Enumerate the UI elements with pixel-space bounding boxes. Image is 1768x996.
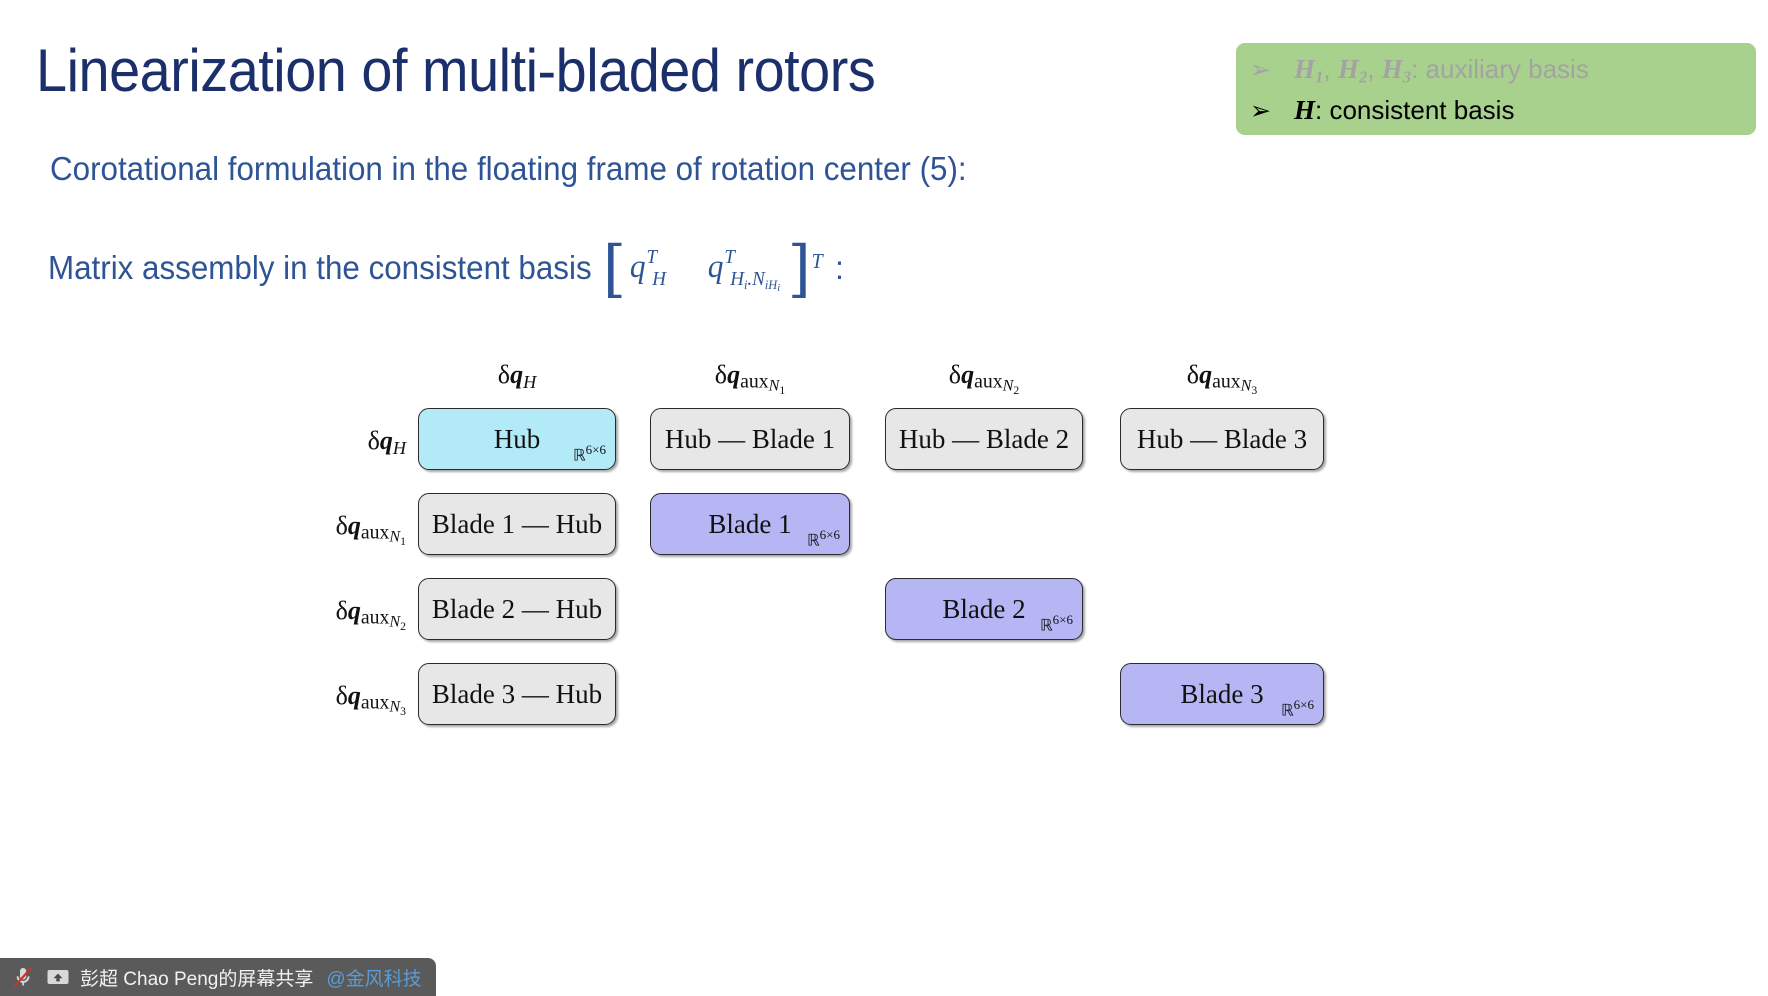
screen-share-icon[interactable] <box>45 964 71 990</box>
matrix-cell-dimension: ℝ6×6 <box>1040 612 1073 635</box>
formula-open-bracket: [ <box>603 244 626 294</box>
formula-term1-sub: H <box>652 268 666 290</box>
formula-consistent-basis-vector: [ qTH qTHi.NiHi ] T : <box>603 243 844 293</box>
matrix-cell-label: Blade 1 — Hub <box>432 509 602 540</box>
arrow-bullet-icon: ➢ <box>1250 91 1294 132</box>
callout-label-auxiliary: : auxiliary basis <box>1411 54 1589 84</box>
matrix-column-header-col-aux3: δqauxN3 <box>1120 360 1324 397</box>
matrix-cell-label: Blade 3 — Hub <box>432 679 602 710</box>
matrix-column-header-col-qH: δqH <box>418 360 616 393</box>
math-var-H: H <box>1294 95 1315 125</box>
formula-term2-sup: T <box>724 246 735 268</box>
matrix-row-header-row-aux2: δqauxN2 <box>300 596 406 633</box>
callout-box: ➢ H1, H2, H3: auxiliary basis ➢ H: consi… <box>1236 43 1756 135</box>
formula-term2-sub-NH: H <box>768 277 777 292</box>
formula-term-qH: qTH <box>626 249 674 286</box>
screen-share-host-tag: @金风科技 <box>326 964 421 991</box>
math-var-H3: H3 <box>1382 54 1411 84</box>
matrix-cell-dimension: ℝ6×6 <box>807 527 840 550</box>
formula-term2-sub-NHi: i <box>777 282 780 294</box>
matrix-row-header-row-qH: δqH <box>300 426 406 459</box>
matrix-cell-cell-hub-blade2: Hub — Blade 2 <box>885 408 1083 470</box>
matrix-cell-label: Blade 2 — Hub <box>432 594 602 625</box>
formula-term-qHiN: qTHi.NiHi <box>704 249 788 286</box>
matrix-cell-cell-blade1-hub: Blade 1 — Hub <box>418 493 616 555</box>
matrix-row-header-row-aux3: δqauxN3 <box>300 681 406 718</box>
matrix-cell-dimension: ℝ6×6 <box>1281 697 1314 720</box>
callout-label-consistent: : consistent basis <box>1315 95 1514 125</box>
matrix-cell-cell-blade1: Blade 1ℝ6×6 <box>650 493 850 555</box>
matrix-cell-cell-hub: Hubℝ6×6 <box>418 408 616 470</box>
callout-item-consistent-basis-text: H: consistent basis <box>1294 90 1514 131</box>
matrix-cell-label: Blade 3 <box>1180 679 1263 710</box>
formula-term2-sub-i: i <box>744 277 747 292</box>
callout-item-consistent-basis: ➢ H: consistent basis <box>1250 90 1746 131</box>
slide-canvas: Linearization of multi-bladed rotors ➢ H… <box>0 0 1768 996</box>
matrix-cell-label: Hub — Blade 2 <box>899 424 1069 455</box>
matrix-cell-cell-blade3-hub: Blade 3 — Hub <box>418 663 616 725</box>
body-text-corotational: Corotational formulation in the floating… <box>50 150 967 188</box>
matrix-cell-cell-blade2-hub: Blade 2 — Hub <box>418 578 616 640</box>
formula-term1-base: q <box>630 249 646 285</box>
matrix-cell-label: Hub — Blade 1 <box>665 424 835 455</box>
screen-share-owner-text: 彭超 Chao Peng的屏幕共享 <box>80 964 313 991</box>
formula-term2-base: q <box>708 249 724 285</box>
callout-item-auxiliary-basis: ➢ H1, H2, H3: auxiliary basis <box>1250 49 1746 90</box>
formula-close-bracket: ] <box>788 244 811 294</box>
matrix-cell-label: Hub <box>494 424 541 455</box>
matrix-cell-cell-blade3: Blade 3ℝ6×6 <box>1120 663 1324 725</box>
matrix-column-header-col-aux1: δqauxN1 <box>650 360 850 397</box>
body-text-matrix-assembly: Matrix assembly in the consistent basis … <box>48 243 844 293</box>
body-text-matrix-assembly-prefix: Matrix assembly in the consistent basis <box>48 249 592 287</box>
screen-share-status-bar: 彭超 Chao Peng的屏幕共享 @金风科技 <box>0 958 436 996</box>
page-title: Linearization of multi-bladed rotors <box>36 36 875 106</box>
math-var-H2: H2 <box>1338 54 1367 84</box>
matrix-cell-cell-hub-blade1: Hub — Blade 1 <box>650 408 850 470</box>
matrix-cell-cell-blade2: Blade 2ℝ6×6 <box>885 578 1083 640</box>
formula-term1-sup: T <box>646 246 657 268</box>
matrix-cell-label: Blade 1 <box>708 509 791 540</box>
matrix-cell-label: Blade 2 <box>942 594 1025 625</box>
matrix-cell-dimension: ℝ6×6 <box>573 442 606 465</box>
formula-term2-sub-main: H <box>730 268 744 290</box>
matrix-cell-cell-hub-blade3: Hub — Blade 3 <box>1120 408 1324 470</box>
matrix-column-header-col-aux2: δqauxN2 <box>885 360 1083 397</box>
matrix-cell-label: Hub — Blade 3 <box>1137 424 1307 455</box>
formula-trailing-colon: : <box>835 249 844 287</box>
arrow-bullet-icon: ➢ <box>1250 50 1294 91</box>
formula-close-sup: T <box>812 249 823 274</box>
math-var-H1: H1 <box>1294 54 1323 84</box>
microphone-muted-icon[interactable] <box>10 964 36 990</box>
matrix-row-header-row-aux1: δqauxN1 <box>300 511 406 548</box>
formula-term2-sub-N: N <box>752 268 765 290</box>
formula-term2-sub: Hi.NiHi <box>730 268 780 290</box>
matrix-assembly-diagram: δqHδqauxN1δqauxN2δqauxN3δqHδqauxN1δqauxN… <box>300 350 1360 750</box>
